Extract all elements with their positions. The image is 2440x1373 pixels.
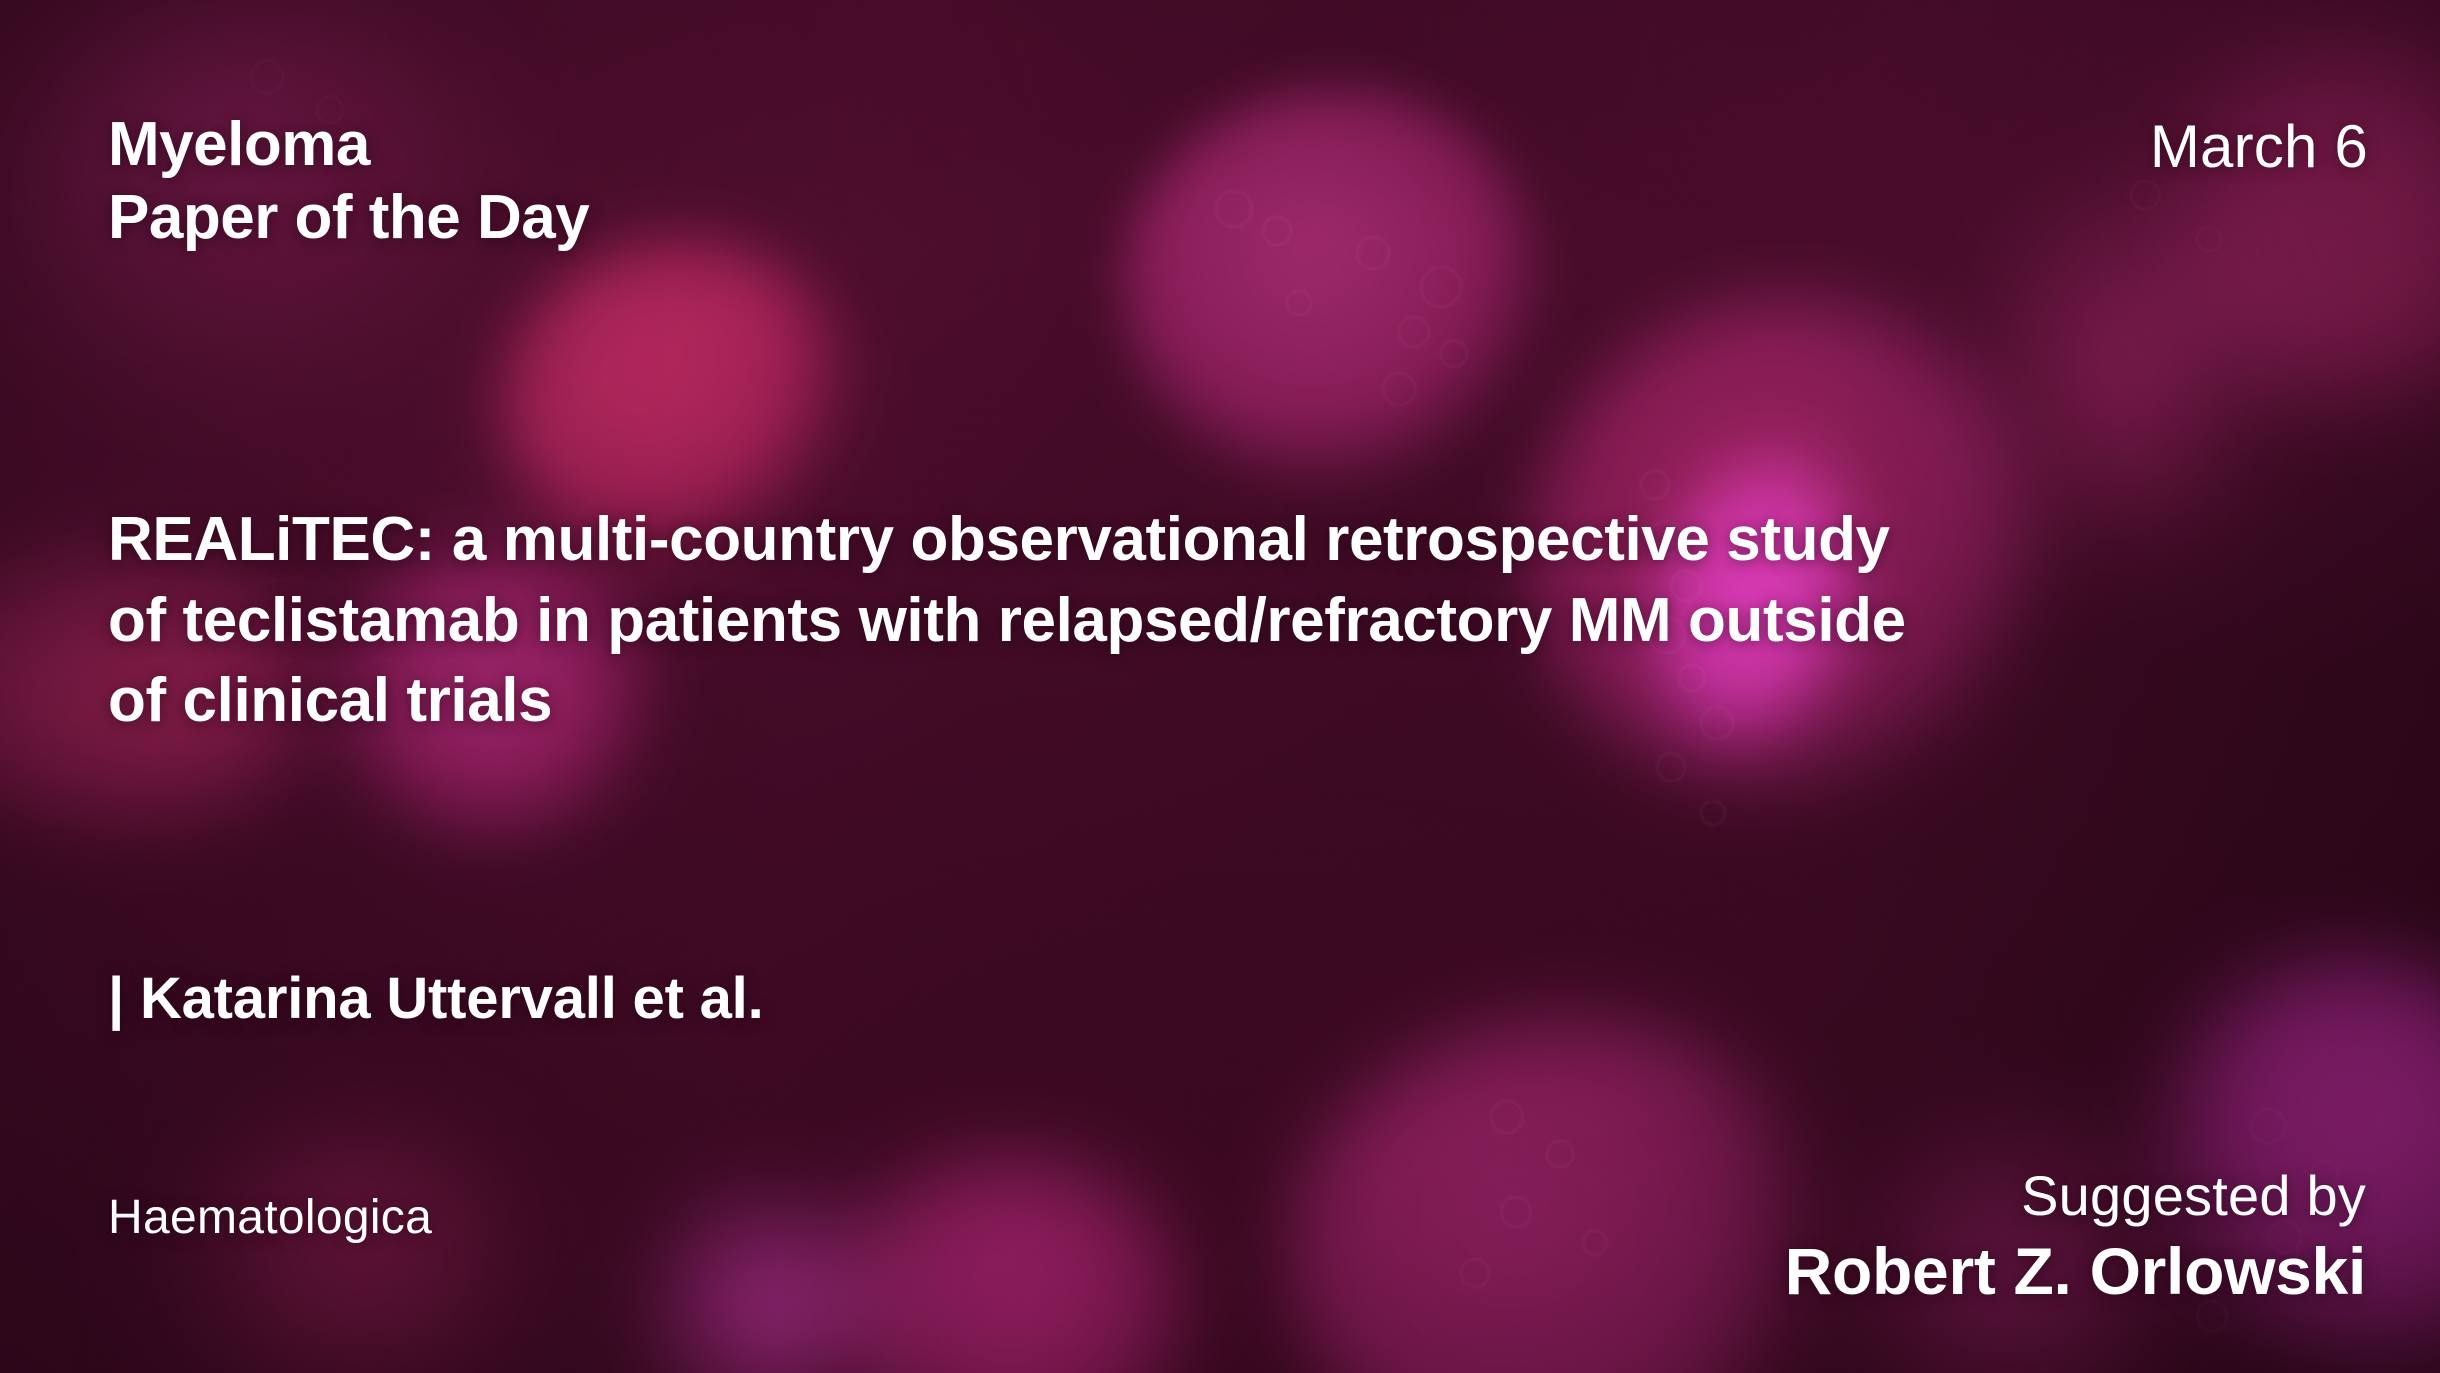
- paper-authors: | Katarina Uttervall et al.: [108, 965, 764, 1032]
- slide-content: Myeloma Paper of the Day March 6 REALiTE…: [0, 0, 2440, 1373]
- kicker-line-2: Paper of the Day: [108, 181, 589, 254]
- paper-journal: Haematologica: [108, 1190, 432, 1245]
- suggested-by-name: Robert Z. Orlowski: [1785, 1233, 2366, 1311]
- suggested-by-label: Suggested by: [1785, 1163, 2366, 1229]
- slide-kicker: Myeloma Paper of the Day: [108, 108, 589, 254]
- paper-title: REALiTEC: a multi-country observational …: [108, 500, 1918, 742]
- suggested-by-block: Suggested by Robert Z. Orlowski: [1785, 1163, 2366, 1311]
- kicker-line-1: Myeloma: [108, 108, 589, 181]
- paper-of-the-day-slide: Myeloma Paper of the Day March 6 REALiTE…: [0, 0, 2440, 1373]
- slide-date: March 6: [2150, 112, 2368, 181]
